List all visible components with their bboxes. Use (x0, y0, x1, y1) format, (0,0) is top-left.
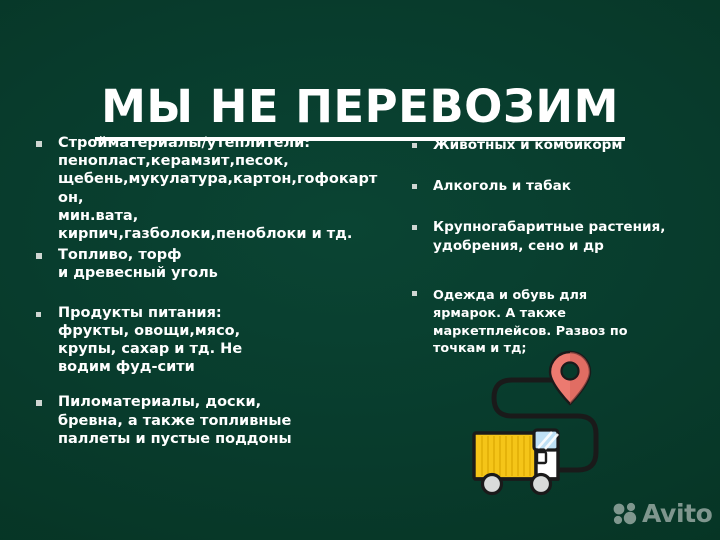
list-item: Топливо, торф и древесный уголь (30, 246, 390, 282)
square-bullet-icon (412, 291, 417, 296)
list-item: Алкоголь и табак (403, 177, 703, 196)
square-bullet-icon (36, 312, 41, 317)
square-bullet-icon (412, 143, 417, 148)
truck-icon (474, 430, 558, 494)
square-bullet-icon (36, 253, 42, 259)
slide-canvas: МЫ НЕ ПЕРЕВОЗИМ Стройматериалы/утеплител… (0, 0, 720, 540)
avito-wordmark: Avito (642, 501, 712, 526)
list-item-label: Животных и комбикорм (433, 136, 703, 155)
list-item: Пиломатериалы, доски, бревна, а также то… (30, 393, 390, 448)
delivery-truck-route-illustration (470, 348, 650, 508)
page-title: МЫ НЕ ПЕРЕВОЗИМ (95, 82, 625, 141)
avito-dots-icon (612, 502, 638, 526)
list-item-label: Топливо, торф и древесный уголь (58, 246, 390, 282)
list-item: Стройматериалы/утеплители: пенопласт,кер… (30, 134, 390, 243)
list-item: Животных и комбикорм (403, 136, 703, 155)
list-item: Продукты питания: фрукты, овощи,мясо, кр… (30, 304, 390, 377)
list-item-label: Алкоголь и табак (433, 177, 703, 196)
square-bullet-icon (36, 141, 42, 147)
right-bullet-list: Животных и комбикорм Алкоголь и табак Кр… (403, 134, 703, 358)
left-bullet-list: Стройматериалы/утеплители: пенопласт,кер… (30, 134, 390, 448)
list-item-label: Пиломатериалы, доски, бревна, а также то… (58, 393, 390, 448)
list-item-label: Продукты питания: фрукты, овощи,мясо, кр… (58, 304, 390, 377)
list-item-label: Крупногабаритные растения, удобрения, се… (433, 218, 703, 255)
list-item-label: Стройматериалы/утеплители: пенопласт,кер… (58, 134, 390, 243)
avito-watermark: Avito (612, 501, 712, 526)
list-item: Крупногабаритные растения, удобрения, се… (403, 218, 703, 255)
square-bullet-icon (412, 225, 417, 230)
square-bullet-icon (36, 400, 42, 406)
map-pin-icon (550, 352, 590, 404)
square-bullet-icon (412, 184, 417, 189)
